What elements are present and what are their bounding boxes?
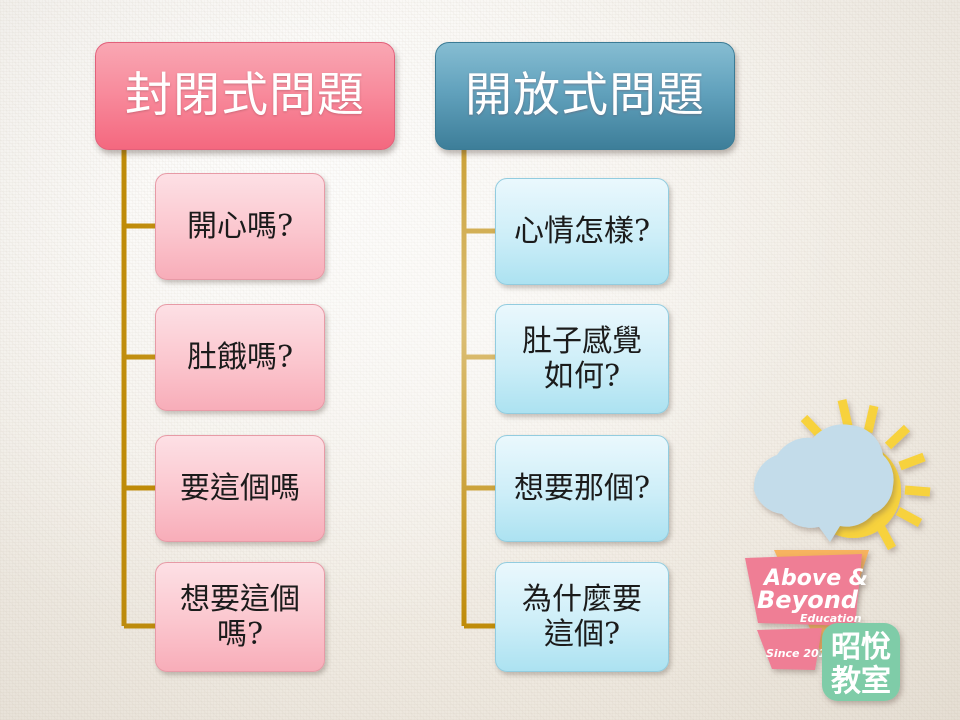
header-box-closed-questions[interactable]: 封閉式問題 bbox=[95, 42, 395, 150]
node-label-open-2: 肚子感覺如何? bbox=[514, 324, 650, 395]
node-label-open-3: 想要那個? bbox=[506, 471, 658, 506]
header-box-open-questions[interactable]: 開放式問題 bbox=[435, 42, 735, 150]
node-box-closed-4[interactable]: 想要這個嗎? bbox=[155, 562, 325, 672]
slide-canvas: 封閉式問題 開心嗎? 肚餓嗎? 要這個嗎 想要這個嗎? 開放式問題 心情怎樣? … bbox=[0, 0, 960, 720]
header-label-open-questions: 開放式問題 bbox=[465, 71, 705, 120]
node-label-closed-1: 開心嗎? bbox=[179, 209, 301, 244]
header-label-closed-questions: 封閉式問題 bbox=[125, 71, 365, 120]
node-box-closed-3[interactable]: 要這個嗎 bbox=[155, 435, 325, 542]
node-label-closed-3: 要這個嗎 bbox=[172, 471, 308, 506]
ribbon-upper: Above & Beyond Education bbox=[745, 554, 868, 626]
node-box-open-1[interactable]: 心情怎樣? bbox=[495, 178, 669, 285]
node-box-open-3[interactable]: 想要那個? bbox=[495, 435, 669, 542]
node-label-closed-4: 想要這個嗎? bbox=[172, 582, 308, 653]
badge-label-line1: 昭悅 bbox=[831, 630, 891, 665]
node-box-closed-2[interactable]: 肚餓嗎? bbox=[155, 304, 325, 411]
node-label-open-1: 心情怎樣? bbox=[506, 214, 658, 249]
node-box-closed-1[interactable]: 開心嗎? bbox=[155, 173, 325, 280]
node-label-closed-2: 肚餓嗎? bbox=[179, 340, 301, 375]
classroom-badge: 昭悅 教室 bbox=[822, 623, 900, 701]
badge-label-line2: 教室 bbox=[831, 664, 891, 699]
above-and-beyond-education-logo: Above & Beyond Education Since 2014 昭悅 教… bbox=[702, 380, 952, 710]
logo-ribbon-line2: Beyond bbox=[757, 586, 859, 614]
node-box-open-4[interactable]: 為什麼要這個? bbox=[495, 562, 669, 672]
node-label-open-4: 為什麼要這個? bbox=[514, 582, 650, 653]
node-box-open-2[interactable]: 肚子感覺如何? bbox=[495, 304, 669, 414]
